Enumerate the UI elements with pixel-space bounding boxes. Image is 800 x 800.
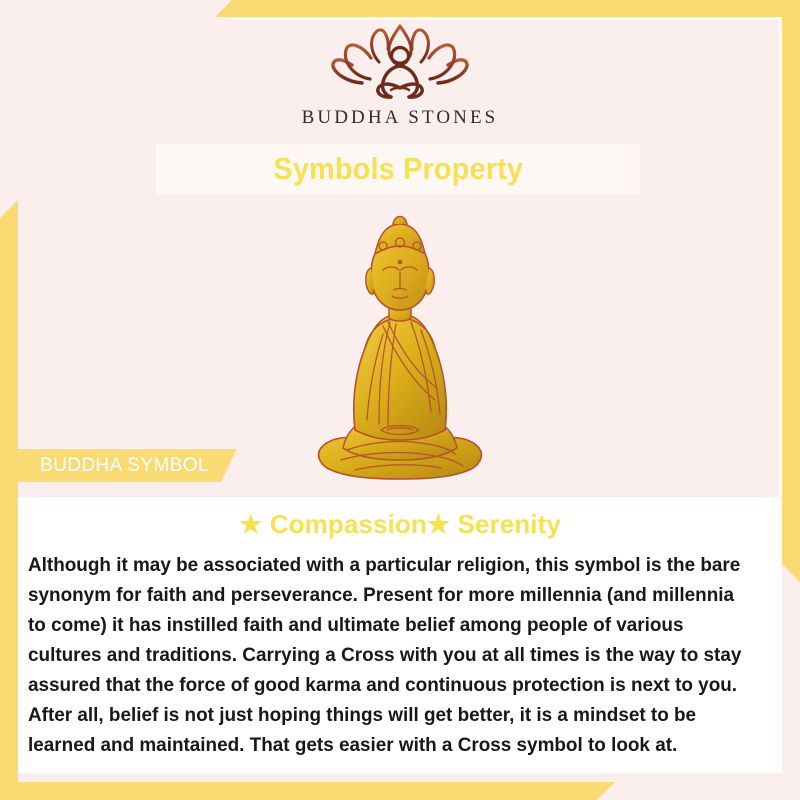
buddha-symbol-tag: BUDDHA SYMBOL bbox=[18, 449, 237, 482]
page-title: Symbols Property bbox=[273, 151, 523, 187]
title-banner: Symbols Property bbox=[156, 144, 640, 194]
frame-band-bottom bbox=[0, 782, 615, 800]
lotus-meditation-figure-icon bbox=[315, 18, 485, 104]
brand-wordmark: BUDDHA STONES bbox=[302, 107, 499, 129]
promo-banner-page: BUDDHA STONES Symbols Property bbox=[0, 0, 800, 800]
description-paragraph: Although it may be associated with a par… bbox=[28, 550, 753, 760]
frame-band-top bbox=[215, 0, 800, 17]
virtues-heading: ★ Compassion★ Serenity bbox=[18, 509, 782, 540]
brand-header: BUDDHA STONES bbox=[0, 18, 800, 138]
content-panel: ★ Compassion★ Serenity Although it may b… bbox=[18, 497, 782, 773]
golden-buddha-statue bbox=[295, 198, 505, 493]
buddha-symbol-tag-label: BUDDHA SYMBOL bbox=[40, 455, 209, 477]
